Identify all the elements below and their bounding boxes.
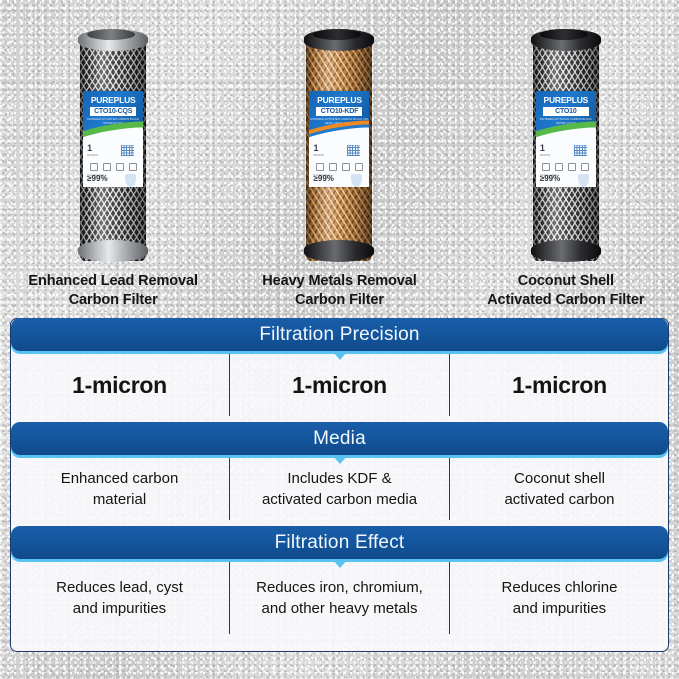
filter-cartridge-image-2: PUREPLUS CTO10-KDF SINTERED ACTIVATED CA… — [306, 33, 372, 258]
cert-badge-icon — [90, 163, 98, 171]
product-title-1: Enhanced Lead Removal Carbon Filter — [11, 272, 216, 310]
cell-media-1: Enhanced carbon material — [10, 458, 229, 520]
cell-effect-2: Reduces iron, chromium, and other heavy … — [229, 562, 449, 634]
cert-badge-icon — [568, 163, 576, 171]
cert-badge-icon — [542, 163, 550, 171]
product-card-1: PUREPLUS CTO10-CQS SINTERED ACTIVATED CA… — [0, 0, 226, 310]
micron-unit-3: MICRON — [540, 154, 551, 158]
table-row-precision: 1-micron 1-micron 1-micron — [10, 354, 669, 416]
end-cap-top-2 — [304, 29, 374, 51]
banner-notch-icon — [333, 352, 347, 360]
comparison-table: Filtration Precision 1-micron 1-micron 1… — [10, 318, 669, 652]
label-body-3: 1 MICRON Reduction Rate ≥99% — [539, 141, 593, 185]
micron-unit-2: MICRON — [313, 154, 324, 158]
section-filtration-effect: Filtration Effect Reduces lead, cyst and… — [10, 526, 669, 634]
cert-badge-icon — [316, 163, 324, 171]
cell-precision-3: 1-micron — [449, 354, 669, 416]
end-cap-bottom-1 — [78, 240, 148, 262]
certification-row-2 — [313, 163, 365, 171]
cert-badge-icon — [555, 163, 563, 171]
certification-row-3 — [540, 163, 592, 171]
end-cap-top-1 — [78, 29, 148, 51]
filter-cartridge-image-1: PUREPLUS CTO10-CQS SINTERED ACTIVATED CA… — [80, 33, 146, 258]
reduction-rate-value-1: ≥99% — [87, 177, 107, 181]
label-body-2: 1 MICRON Reduction Rate ≥99% — [312, 141, 366, 185]
cell-precision-2: 1-micron — [229, 354, 449, 416]
model-number-1: CTO10-CQS — [90, 107, 136, 116]
banner-notch-icon — [333, 456, 347, 464]
end-cap-top-3 — [531, 29, 601, 51]
product-card-3: PUREPLUS CTO10 SINTERED ACTIVATED CARBON… — [453, 0, 679, 310]
cert-badge-icon — [581, 163, 589, 171]
product-gallery: PUREPLUS CTO10-CQS SINTERED ACTIVATED CA… — [0, 0, 679, 310]
banner-notch-icon — [333, 560, 347, 568]
end-cap-inner-top-3 — [540, 29, 588, 40]
cert-badge-icon — [129, 163, 137, 171]
brand-name-1: PUREPLUS — [83, 95, 143, 105]
table-row-media: Enhanced carbon material Includes KDF & … — [10, 458, 669, 520]
end-cap-bottom-3 — [531, 240, 601, 262]
product-label-3: PUREPLUS CTO10 SINTERED ACTIVATED CARBON… — [536, 91, 596, 187]
cell-media-2: Includes KDF & activated carbon media — [229, 458, 449, 520]
model-number-3: CTO10 — [543, 107, 589, 116]
product-label-2: PUREPLUS CTO10-KDF SINTERED ACTIVATED CA… — [309, 91, 369, 187]
reduction-rate-value-3: ≥99% — [540, 177, 560, 181]
brand-name-2: PUREPLUS — [309, 95, 369, 105]
cert-badge-icon — [329, 163, 337, 171]
end-cap-bottom-2 — [304, 240, 374, 262]
product-title-2: Heavy Metals Removal Carbon Filter — [237, 272, 442, 310]
section-banner-media: Media — [11, 422, 668, 455]
section-banner-label-3: Filtration Effect — [275, 533, 405, 552]
micron-rating-2: 1 — [313, 144, 318, 153]
end-cap-inner-top-2 — [313, 29, 361, 40]
cell-effect-3: Reduces chlorine and impurities — [449, 562, 669, 634]
product-label-1: PUREPLUS CTO10-CQS SINTERED ACTIVATED CA… — [83, 91, 143, 187]
cert-badge-icon — [355, 163, 363, 171]
section-banner-filtration-effect: Filtration Effect — [11, 526, 668, 559]
certification-row-1 — [87, 163, 139, 171]
cert-badge-icon — [103, 163, 111, 171]
label-body-1: 1 MICRON Reduction Rate ≥99% — [86, 141, 140, 185]
table-row-effect: Reduces lead, cyst and impurities Reduce… — [10, 562, 669, 634]
cell-media-3: Coconut shell activated carbon — [449, 458, 669, 520]
shield-icon — [351, 174, 362, 187]
product-card-2: PUREPLUS CTO10-KDF SINTERED ACTIVATED CA… — [226, 0, 452, 310]
micron-rating-1: 1 — [87, 144, 92, 153]
section-banner-filtration-precision: Filtration Precision — [11, 318, 668, 351]
filter-cartridge-image-3: PUREPLUS CTO10 SINTERED ACTIVATED CARBON… — [533, 33, 599, 258]
micron-unit-1: MICRON — [87, 154, 98, 158]
reduction-rate-value-2: ≥99% — [313, 177, 333, 181]
mesh-grid-icon-3 — [574, 145, 587, 156]
cell-precision-1: 1-micron — [10, 354, 229, 416]
section-banner-label-1: Filtration Precision — [259, 325, 419, 344]
micron-rating-3: 1 — [540, 144, 545, 153]
cell-effect-1: Reduces lead, cyst and impurities — [10, 562, 229, 634]
model-number-2: CTO10-KDF — [316, 107, 362, 116]
section-media: Media Enhanced carbon material Includes … — [10, 422, 669, 520]
cert-badge-icon — [116, 163, 124, 171]
shield-icon — [578, 174, 589, 187]
end-cap-inner-top-1 — [87, 29, 135, 40]
section-filtration-precision: Filtration Precision 1-micron 1-micron 1… — [10, 318, 669, 416]
cert-badge-icon — [342, 163, 350, 171]
mesh-grid-icon-1 — [121, 145, 134, 156]
mesh-grid-icon-2 — [347, 145, 360, 156]
product-title-3: Coconut Shell Activated Carbon Filter — [463, 272, 668, 310]
product-comparison-infographic: PUREPLUS CTO10-CQS SINTERED ACTIVATED CA… — [0, 0, 679, 679]
brand-name-3: PUREPLUS — [536, 95, 596, 105]
shield-icon — [125, 174, 136, 187]
section-banner-label-2: Media — [313, 429, 366, 448]
